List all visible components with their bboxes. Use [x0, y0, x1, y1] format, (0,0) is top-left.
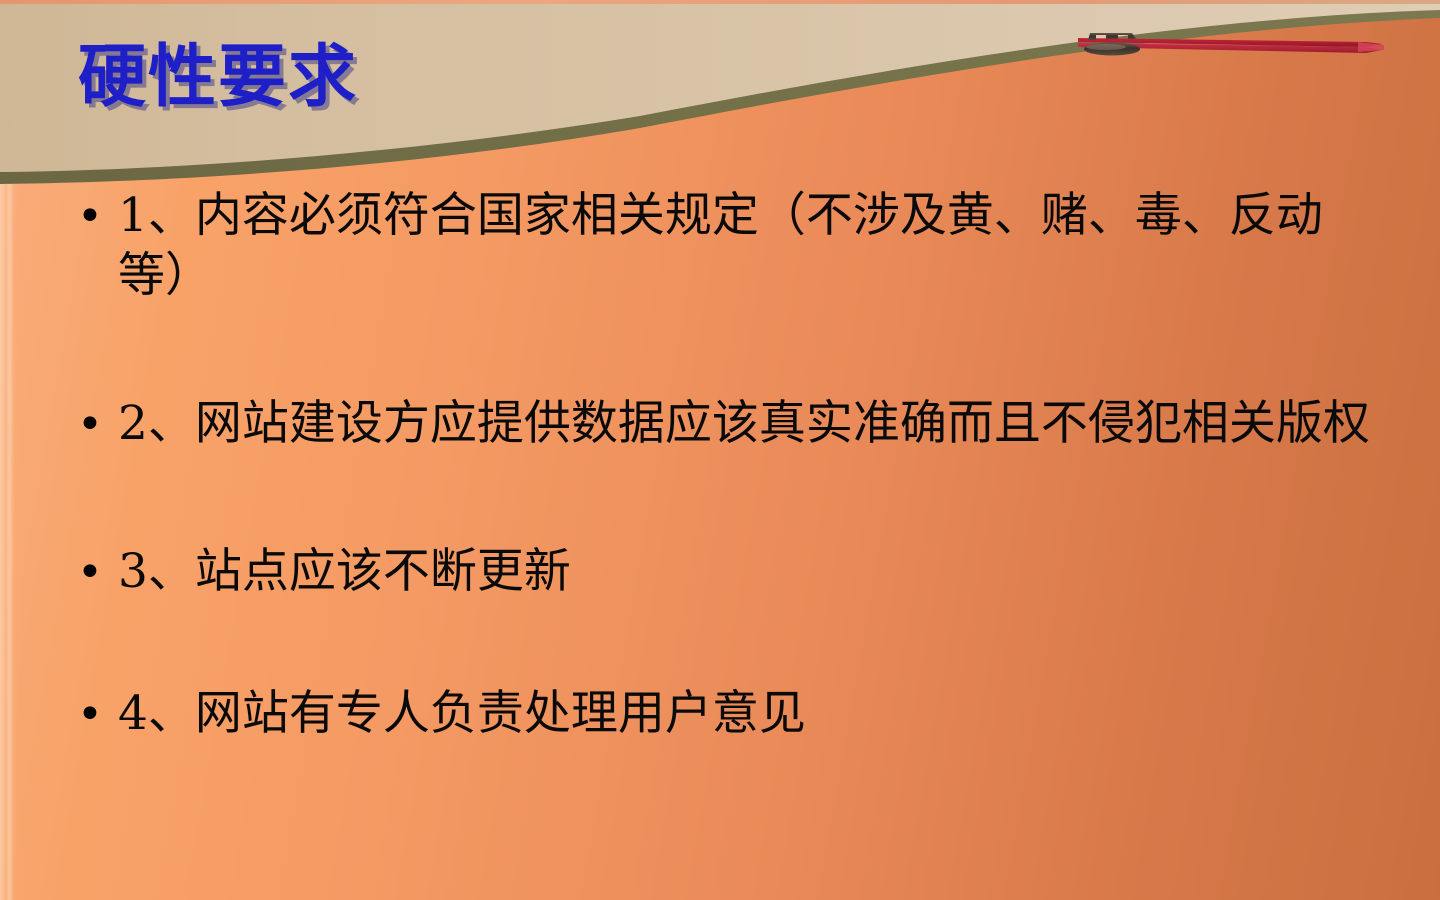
list-item-text: 4、网站有专人负责处理用户意见 [118, 684, 1392, 744]
list-item: • 2、网站建设方应提供数据应该真实准确而且不侵犯相关版权 [62, 394, 1392, 456]
slide-title: 硬性要求 [78, 44, 358, 112]
top-edge-accent-line [0, 0, 1440, 4]
bullet-point-icon: • [62, 394, 118, 456]
bullet-point-icon: • [62, 684, 118, 746]
presentation-slide: 硬性要求 • 1、内容必须符合国家相关规定（不涉及黄、赌、毒、反动等） • 2、… [0, 0, 1440, 900]
list-item-text: 2、网站建设方应提供数据应该真实准确而且不侵犯相关版权 [118, 394, 1392, 454]
list-item-text: 3、站点应该不断更新 [118, 542, 1392, 602]
list-item-text: 1、内容必须符合国家相关规定（不涉及黄、赌、毒、反动等） [118, 186, 1392, 306]
bullet-point-icon: • [62, 542, 118, 604]
bullet-list: • 1、内容必须符合国家相关规定（不涉及黄、赌、毒、反动等） • 2、网站建设方… [62, 186, 1392, 746]
bullet-point-icon: • [62, 186, 118, 248]
list-item: • 1、内容必须符合国家相关规定（不涉及黄、赌、毒、反动等） [62, 186, 1392, 306]
list-item: • 3、站点应该不断更新 [62, 542, 1392, 604]
chopsticks-decoration-icon [1066, 22, 1386, 68]
list-item: • 4、网站有专人负责处理用户意见 [62, 684, 1392, 746]
